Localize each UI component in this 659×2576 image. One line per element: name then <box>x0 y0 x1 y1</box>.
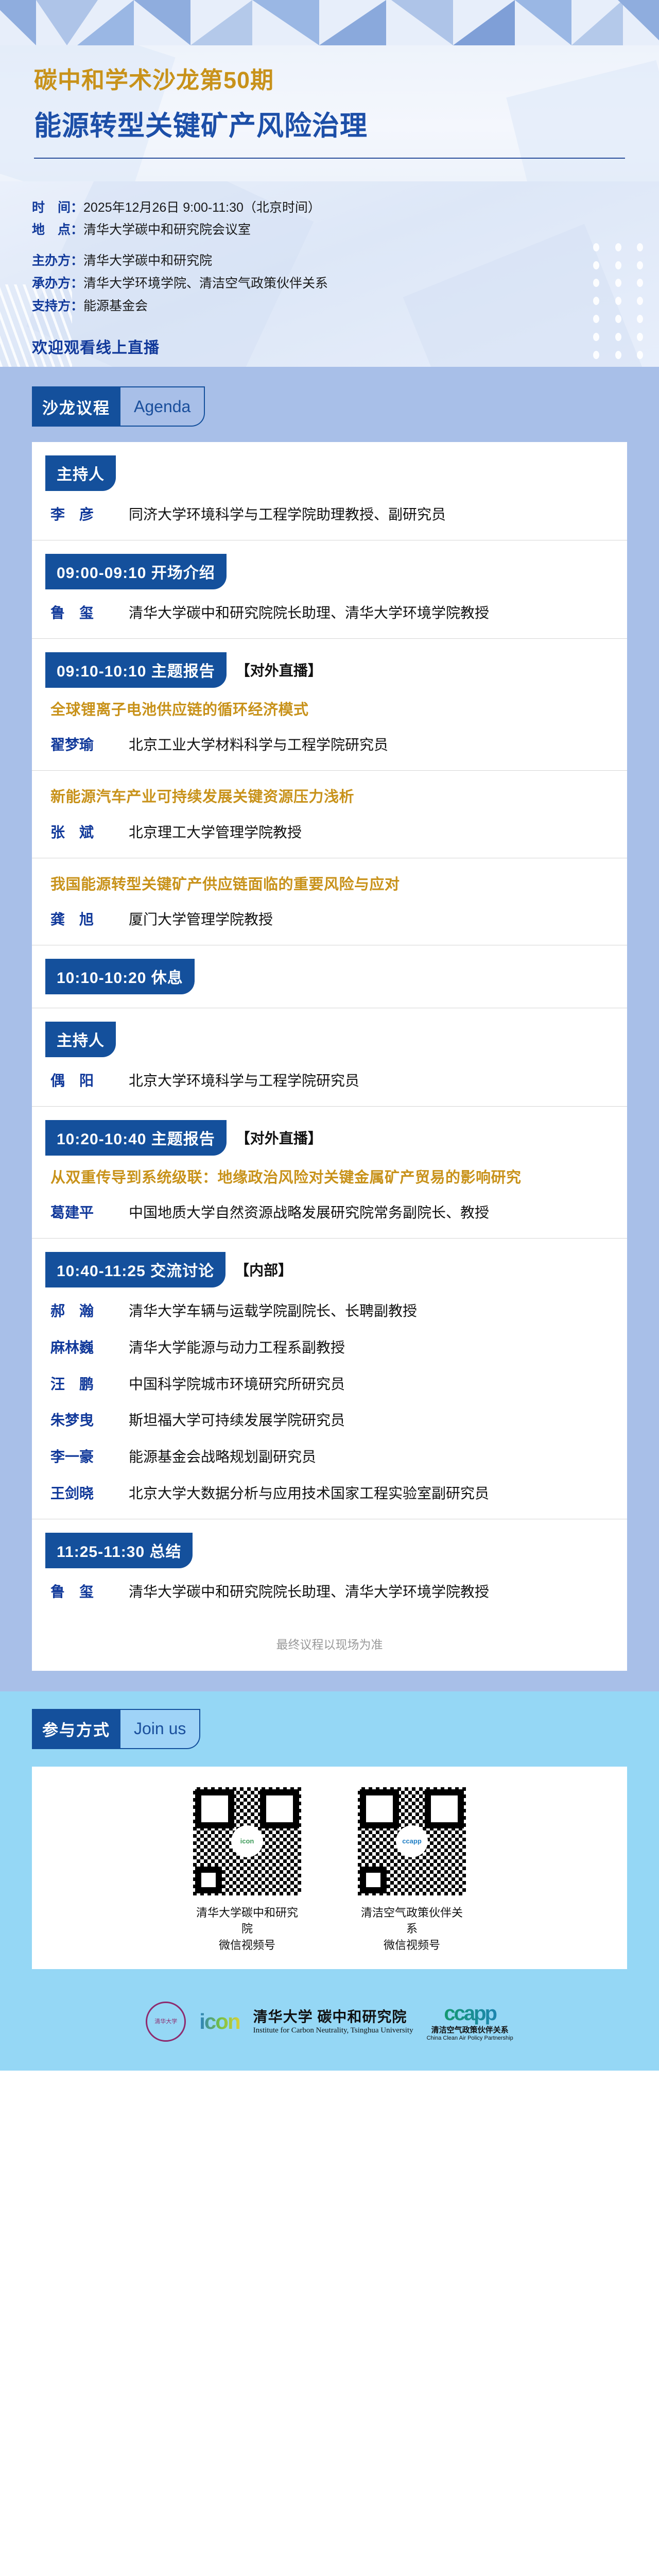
person-name: 偶 阳 <box>50 1070 129 1093</box>
page-title-line2: 能源转型关键矿产风险治理 <box>0 109 659 144</box>
person-affiliation: 能源基金会战略规划副研究员 <box>129 1446 614 1469</box>
ccapp-name-cn: 清洁空气政策伙伴关系 <box>427 2026 513 2035</box>
agenda-item: 主持人 李 彦 同济大学环境科学与工程学院助理教授、副研究员 <box>32 442 627 527</box>
triangle-decor <box>618 0 659 45</box>
person-name: 李一豪 <box>50 1446 129 1469</box>
agenda-badge: 主持人 <box>45 1022 116 1057</box>
info-label: 地 点： <box>32 219 83 242</box>
institute-name-en: Institute for Carbon Neutrality, Tsinghu… <box>253 2026 413 2036</box>
icon-logo-icon: icon <box>199 2009 239 2034</box>
triangle-decor <box>515 0 571 45</box>
agenda-person: 张 斌 北京理工大学管理学院教授 <box>50 821 614 844</box>
agenda-person: 鲁 玺 清华大学碳中和研究院院长助理、清华大学环境学院教授 <box>50 1581 614 1604</box>
join-section-chip: 参与方式 Join us <box>32 1709 200 1749</box>
ccapp-logo-icon: ccapp <box>396 1825 428 1857</box>
triangle-decor <box>453 0 515 45</box>
person-name: 王剑晓 <box>50 1482 129 1505</box>
info-value: 能源基金会 <box>83 295 148 318</box>
person-affiliation: 中国地质大学自然资源战略发展研究院常务副院长、教授 <box>129 1201 614 1225</box>
person-name: 张 斌 <box>50 821 129 844</box>
agenda-badge-row: 主持人 <box>45 442 614 491</box>
person-name: 朱梦曳 <box>50 1409 129 1432</box>
livestream-welcome-text: 欢迎观看线上直播 <box>32 335 659 358</box>
agenda-badge-row: 主持人 <box>45 1008 614 1057</box>
ccapp-mark-icon: ccapp <box>427 2001 513 2026</box>
person-name: 龚 旭 <box>50 908 129 931</box>
agenda-person: 鲁 玺 清华大学碳中和研究院院长助理、清华大学环境学院教授 <box>50 602 614 625</box>
poster-root: 碳中和学术沙龙第50期 能源转型关键矿产风险治理 时 间： 2025年12月26… <box>0 0 659 2576</box>
agenda-badge-note: 【对外直播】 <box>236 1127 322 1148</box>
qr-caption: 清洁空气政策伙伴关系 微信视频号 <box>358 1905 466 1954</box>
agenda-item: 10:10-10:20 休息 <box>32 945 627 1008</box>
agenda-item: 新能源汽车产业可持续发展关键资源压力浅析 张 斌 北京理工大学管理学院教授 <box>32 770 627 844</box>
info-value: 清华大学环境学院、清洁空气政策伙伴关系 <box>83 273 328 295</box>
agenda-person: 朱梦曳 斯坦福大学可持续发展学院研究员 <box>50 1409 614 1432</box>
agenda-person: 郝 瀚 清华大学车辆与运载学院副院长、长聘副教授 <box>50 1300 614 1323</box>
title-block: 碳中和学术沙龙第50期 能源转型关键矿产风险治理 <box>0 45 659 181</box>
person-affiliation: 斯坦福大学可持续发展学院研究员 <box>129 1409 614 1432</box>
agenda-person: 翟梦瑜 北京工业大学材料科学与工程学院研究员 <box>50 734 614 757</box>
agenda-item: 10:20-10:40 主题报告 【对外直播】 从双重传导到系统级联：地缘政治风… <box>32 1106 627 1225</box>
agenda-person: 葛建平 中国地质大学自然资源战略发展研究院常务副院长、教授 <box>50 1201 614 1225</box>
info-row-supporter: 支持方： 能源基金会 <box>32 295 659 318</box>
agenda-badge-row: 09:10-10:10 主题报告 【对外直播】 <box>45 639 614 688</box>
triangle-decor <box>319 0 386 45</box>
agenda-item: 11:25-11:30 总结 鲁 玺 清华大学碳中和研究院院长助理、清华大学环境… <box>32 1519 627 1604</box>
qr-card: icon 清华大学碳中和研究院 微信视频号 ccapp 清洁空气政策伙伴关系 微… <box>32 1767 627 1970</box>
page-title-line1: 碳中和学术沙龙第50期 <box>0 65 659 96</box>
info-label: 主办方： <box>32 250 83 273</box>
agenda-section: 沙龙议程 Agenda 主持人 李 彦 同济大学环境科学与工程学院助理教授、副研… <box>0 367 659 1691</box>
join-chip-en: Join us <box>120 1709 200 1749</box>
qr-row: icon 清华大学碳中和研究院 微信视频号 ccapp 清洁空气政策伙伴关系 微… <box>32 1787 627 1954</box>
person-affiliation: 北京大学大数据分析与应用技术国家工程实验室副研究员 <box>129 1482 614 1505</box>
agenda-person: 龚 旭 厦门大学管理学院教授 <box>50 908 614 931</box>
triangle-decor <box>77 0 134 45</box>
info-label: 承办方： <box>32 273 83 295</box>
agenda-person: 王剑晓 北京大学大数据分析与应用技术国家工程实验室副研究员 <box>50 1482 614 1505</box>
qr-code-ccapp[interactable]: ccapp <box>358 1787 466 1895</box>
agenda-badge-row: 10:40-11:25 交流讨论 【内部】 <box>45 1239 614 1287</box>
agenda-person: 汪 鹏 中国科学院城市环境研究所研究员 <box>50 1373 614 1396</box>
agenda-badge-row: 10:20-10:40 主题报告 【对外直播】 <box>45 1107 614 1156</box>
info-label: 支持方： <box>32 295 83 318</box>
qr-caption: 清华大学碳中和研究院 微信视频号 <box>193 1905 301 1954</box>
ccapp-logo-block: ccapp 清洁空气政策伙伴关系 China Clean Air Policy … <box>427 2001 513 2042</box>
person-affiliation: 清华大学能源与动力工程系副教授 <box>129 1336 614 1360</box>
footer-logos: 清华大学 icon 清华大学 碳中和研究院 Institute for Carb… <box>0 1969 659 2071</box>
agenda-person: 麻林巍 清华大学能源与动力工程系副教授 <box>50 1336 614 1360</box>
triangle-decor <box>0 0 36 45</box>
agenda-badge: 10:10-10:20 休息 <box>45 959 195 994</box>
agenda-person: 偶 阳 北京大学环境科学与工程学院研究员 <box>50 1070 614 1093</box>
join-chip-cn: 参与方式 <box>32 1709 120 1749</box>
agenda-badge: 10:20-10:40 主题报告 <box>45 1120 227 1156</box>
info-value: 清华大学碳中和研究院会议室 <box>83 219 251 242</box>
person-name: 汪 鹏 <box>50 1373 129 1396</box>
talk-title: 新能源汽车产业可持续发展关键资源压力浅析 <box>50 786 614 809</box>
person-name: 郝 瀚 <box>50 1300 129 1323</box>
agenda-card: 主持人 李 彦 同济大学环境科学与工程学院助理教授、副研究员 09:00-09:… <box>32 442 627 1670</box>
triangle-decor <box>252 0 319 45</box>
agenda-badge-note: 【对外直播】 <box>236 659 322 680</box>
person-name: 葛建平 <box>50 1201 129 1225</box>
agenda-badge-row: 10:10-10:20 休息 <box>45 945 614 994</box>
agenda-badge-row: 09:00-09:10 开场介绍 <box>45 540 614 589</box>
person-name: 翟梦瑜 <box>50 734 129 757</box>
agenda-badge: 10:40-11:25 交流讨论 <box>45 1252 226 1287</box>
agenda-item: 10:40-11:25 交流讨论 【内部】 郝 瀚 清华大学车辆与运载学院副院长… <box>32 1238 627 1505</box>
info-row-organizer: 主办方： 清华大学碳中和研究院 <box>32 250 659 273</box>
agenda-item: 09:00-09:10 开场介绍 鲁 玺 清华大学碳中和研究院院长助理、清华大学… <box>32 540 627 625</box>
person-name: 麻林巍 <box>50 1336 129 1360</box>
person-affiliation: 中国科学院城市环境研究所研究员 <box>129 1373 614 1396</box>
agenda-badge: 主持人 <box>45 455 116 491</box>
person-affiliation: 同济大学环境科学与工程学院助理教授、副研究员 <box>129 503 614 527</box>
agenda-item: 我国能源转型关键矿产供应链面临的重要风险与应对 龚 旭 厦门大学管理学院教授 <box>32 858 627 931</box>
event-info-block: 时 间： 2025年12月26日 9:00-11:30（北京时间） 地 点： 清… <box>0 181 659 367</box>
person-affiliation: 北京工业大学材料科学与工程学院研究员 <box>129 734 614 757</box>
info-row-time: 时 间： 2025年12月26日 9:00-11:30（北京时间） <box>32 197 659 219</box>
agenda-badge-note: 【内部】 <box>235 1259 292 1280</box>
seal-label: 清华大学 <box>154 2019 177 2025</box>
info-row-coorganizer: 承办方： 清华大学环境学院、清洁空气政策伙伴关系 <box>32 273 659 295</box>
person-name: 李 彦 <box>50 503 129 527</box>
tsinghua-seal-icon: 清华大学 <box>146 2002 186 2042</box>
person-affiliation: 清华大学碳中和研究院院长助理、清华大学环境学院教授 <box>129 1581 614 1604</box>
agenda-item: 主持人 偶 阳 北京大学环境科学与工程学院研究员 <box>32 1008 627 1093</box>
person-affiliation: 清华大学车辆与运载学院副院长、长聘副教授 <box>129 1300 614 1323</box>
talk-title: 从双重传导到系统级联：地缘政治风险对关键金属矿产贸易的影响研究 <box>50 1167 614 1190</box>
triangle-decor <box>190 0 252 45</box>
person-affiliation: 厦门大学管理学院教授 <box>129 908 614 931</box>
event-info-rows: 时 间： 2025年12月26日 9:00-11:30（北京时间） 地 点： 清… <box>0 197 659 318</box>
agenda-badge-row: 11:25-11:30 总结 <box>45 1519 614 1568</box>
person-affiliation: 北京理工大学管理学院教授 <box>129 821 614 844</box>
qr-col-ccapp: ccapp 清洁空气政策伙伴关系 微信视频号 <box>358 1787 466 1954</box>
triangle-decor <box>134 0 190 45</box>
institute-name-cn: 清华大学 碳中和研究院 <box>253 2008 413 2026</box>
agenda-item: 09:10-10:10 主题报告 【对外直播】 全球锂离子电池供应链的循环经济模… <box>32 638 627 757</box>
top-decorative-band <box>0 0 659 45</box>
agenda-chip-cn: 沙龙议程 <box>32 386 120 427</box>
info-value: 清华大学碳中和研究院 <box>83 250 212 273</box>
person-name: 鲁 玺 <box>50 602 129 625</box>
qr-code-icon[interactable]: icon <box>193 1787 301 1895</box>
talk-title: 我国能源转型关键矿产供应链面临的重要风险与应对 <box>50 874 614 896</box>
institute-name-block: 清华大学 碳中和研究院 Institute for Carbon Neutral… <box>253 2008 413 2036</box>
agenda-person: 李 彦 同济大学环境科学与工程学院助理教授、副研究员 <box>50 503 614 527</box>
agenda-person: 李一豪 能源基金会战略规划副研究员 <box>50 1446 614 1469</box>
person-affiliation: 清华大学碳中和研究院院长助理、清华大学环境学院教授 <box>129 602 614 625</box>
ccapp-name-en: China Clean Air Policy Partnership <box>427 2035 513 2042</box>
title-divider <box>34 158 625 159</box>
agenda-section-chip: 沙龙议程 Agenda <box>32 386 205 427</box>
talk-title: 全球锂离子电池供应链的循环经济模式 <box>50 699 614 722</box>
person-affiliation: 北京大学环境科学与工程学院研究员 <box>129 1070 614 1093</box>
agenda-badge: 09:00-09:10 开场介绍 <box>45 554 227 589</box>
icon-logo-icon: icon <box>231 1825 263 1857</box>
person-name: 鲁 玺 <box>50 1581 129 1604</box>
info-row-location: 地 点： 清华大学碳中和研究院会议室 <box>32 219 659 242</box>
triangle-decor <box>391 0 453 45</box>
info-value: 2025年12月26日 9:00-11:30（北京时间） <box>83 197 321 219</box>
qr-col-icon: icon 清华大学碳中和研究院 微信视频号 <box>193 1787 301 1954</box>
agenda-badge: 09:10-10:10 主题报告 <box>45 652 227 688</box>
agenda-disclaimer: 最终议程以现场为准 <box>32 1617 627 1657</box>
triangle-decor <box>571 0 623 45</box>
info-label: 时 间： <box>32 197 83 219</box>
join-section: 参与方式 Join us icon 清华大学碳中和研究院 微信视频号 ccapp <box>0 1691 659 1970</box>
agenda-chip-en: Agenda <box>120 386 205 427</box>
agenda-badge: 11:25-11:30 总结 <box>45 1533 193 1568</box>
